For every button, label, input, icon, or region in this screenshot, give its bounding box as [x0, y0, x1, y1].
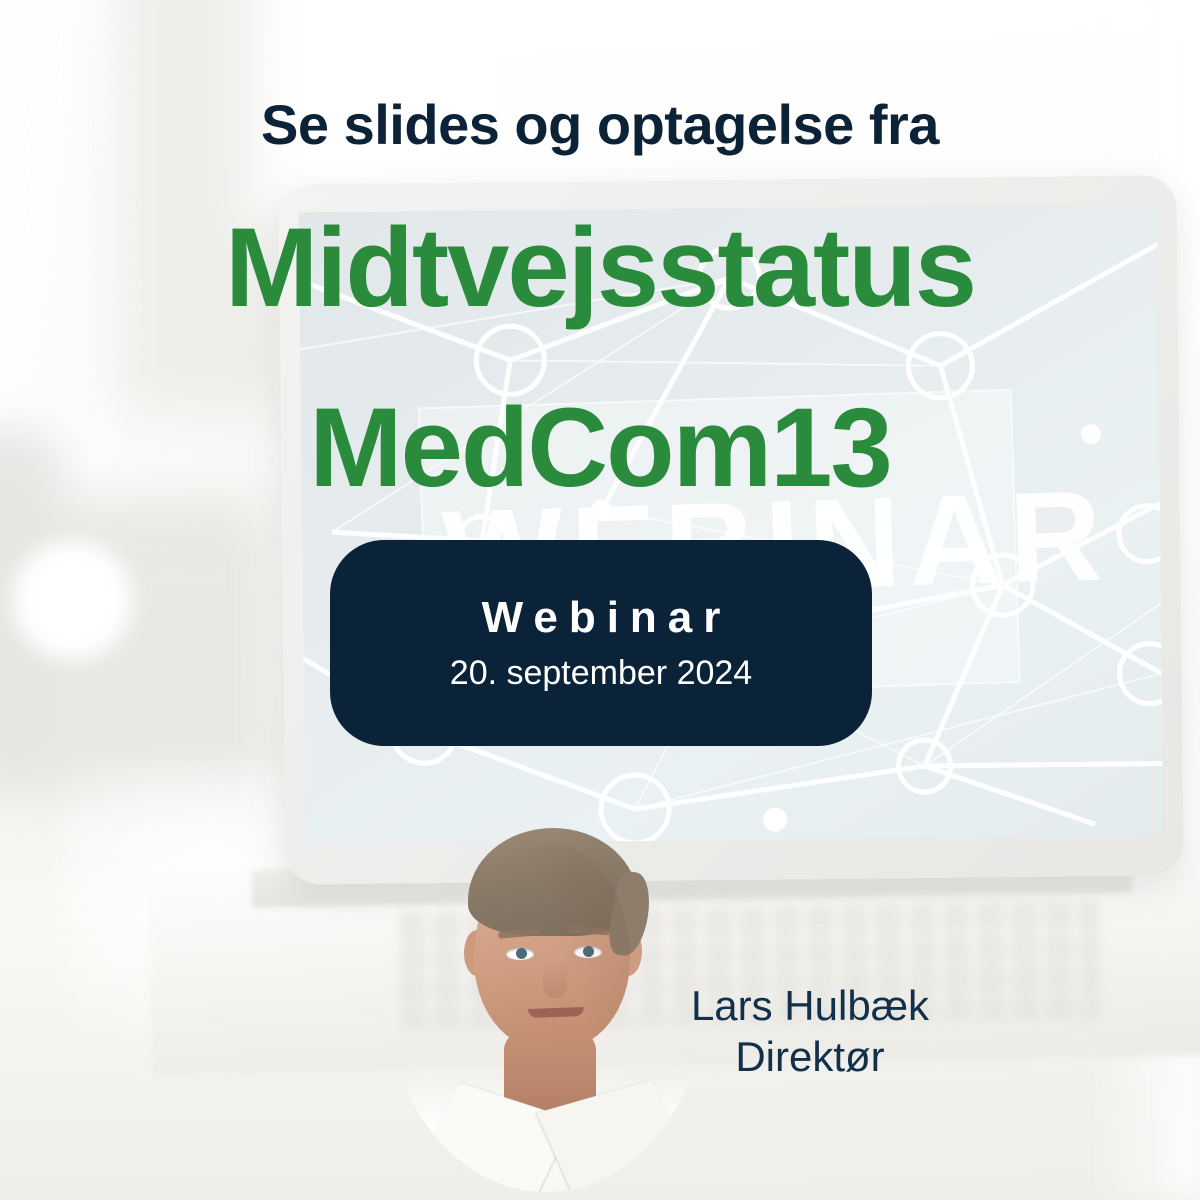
speaker-caption: Lars Hulbæk Direktør [600, 980, 1020, 1082]
badge-label: Webinar [471, 594, 732, 642]
title-line-2: MedCom13 [0, 392, 1200, 504]
promo-graphic: WEBINAR Se slides og optagelse fra Midtv… [0, 0, 1200, 1200]
speaker-role: Direktør [600, 1031, 1020, 1082]
title-line-1: Midtvejsstatus [0, 212, 1200, 324]
headline-kicker: Se slides og optagelse fra [0, 96, 1200, 155]
webinar-badge: Webinar 20. september 2024 [330, 540, 872, 746]
background-cup [12, 540, 132, 660]
badge-date: 20. september 2024 [450, 655, 752, 692]
speaker-name: Lars Hulbæk [600, 980, 1020, 1031]
